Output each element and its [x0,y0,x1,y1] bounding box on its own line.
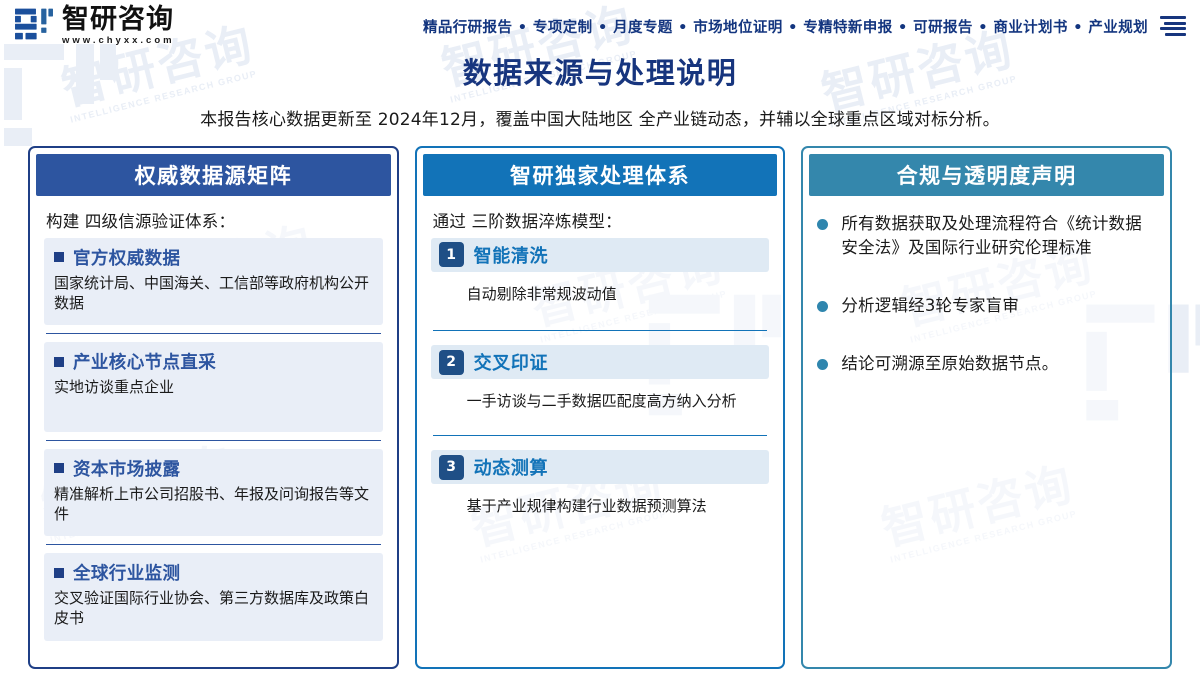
list-item-title: 资本市场披露 [73,456,180,481]
page-header: 智研咨询 www.chyxx.com 精品行研报告 • 专项定制 • 月度专题 … [0,0,1200,52]
divider [433,330,768,331]
panel-header-title: 权威数据源矩阵 [135,160,293,190]
list-item-desc: 精准解析上市公司招股书、年报及问询报告等文件 [54,484,373,525]
list-item[interactable]: 所有数据获取及处理流程符合《统计数据安全法》及国际行业研究伦理标准 [817,212,1156,260]
panel-header-1: 权威数据源矩阵 [36,154,391,196]
list-item[interactable]: 结论可溯源至原始数据节点。 [817,352,1156,376]
panel-compliance-statement: 合规与透明度声明 所有数据获取及处理流程符合《统计数据安全法》及国际行业研究伦理… [801,146,1172,669]
panels-container: 权威数据源矩阵 构建 四级信源验证体系： 官方权威数据 国家统计局、中国海关、工… [0,130,1200,669]
compliance-bullet-list: 所有数据获取及处理流程符合《统计数据安全法》及国际行业研究伦理标准 分析逻辑经3… [817,212,1156,376]
list-item[interactable]: 官方权威数据 国家统计局、中国海关、工信部等政府机构公开数据 [44,238,383,326]
step-number-badge: 1 [439,242,464,267]
list-item-title: 官方权威数据 [73,245,180,270]
panel-header-title: 智研独家处理体系 [510,160,690,190]
list-item-header: 官方权威数据 [54,245,373,270]
panel-header-title: 合规与透明度声明 [897,160,1077,190]
divider [46,440,381,441]
step-item[interactable]: 3 动态测算 基于产业规律构建行业数据预测算法 [431,450,770,516]
list-item-desc: 交叉验证国际行业协会、第三方数据库及政策白皮书 [54,588,373,629]
list-item-header: 全球行业监测 [54,560,373,585]
panel-body-1: 构建 四级信源验证体系： 官方权威数据 国家统计局、中国海关、工信部等政府机构公… [30,196,397,667]
square-bullet-icon [54,463,64,473]
divider [433,435,768,436]
page-title: 数据来源与处理说明 [0,58,1200,90]
logo-title: 智研咨询 [62,6,175,33]
panel-processing-system: 智研独家处理体系 通过 三阶数据淬炼模型： 1 智能清洗 自动剔除非常规波动值 … [415,146,786,669]
list-item-desc: 实地访谈重点企业 [54,377,373,397]
step-item[interactable]: 1 智能清洗 自动剔除非常规波动值 [431,238,770,304]
stripes-icon[interactable] [1160,16,1186,36]
square-bullet-icon [54,252,64,262]
brand-logo[interactable]: 智研咨询 www.chyxx.com [14,6,175,46]
header-tagline: 精品行研报告 • 专项定制 • 月度专题 • 市场地位证明 • 专精特新申报 •… [423,16,1148,37]
dot-bullet-icon [817,219,828,230]
step-header: 2 交叉印证 [431,345,770,379]
panel1-lead: 构建 四级信源验证体系： [46,208,383,232]
step-desc: 一手访谈与二手数据匹配度高方纳入分析 [467,391,770,411]
list-item-desc: 国家统计局、中国海关、工信部等政府机构公开数据 [54,273,373,314]
header-tagline-group: 精品行研报告 • 专项定制 • 月度专题 • 市场地位证明 • 专精特新申报 •… [423,16,1186,37]
step-desc: 自动剔除非常规波动值 [467,284,770,304]
list-item-title: 产业核心节点直采 [73,349,216,374]
dot-bullet-icon [817,301,828,312]
bullet-text: 分析逻辑经3轮专家盲审 [841,294,1019,318]
panel-body-2: 通过 三阶数据淬炼模型： 1 智能清洗 自动剔除非常规波动值 2 交叉印证 一手… [417,196,784,667]
divider [46,333,381,334]
panel-body-3: 所有数据获取及处理流程符合《统计数据安全法》及国际行业研究伦理标准 分析逻辑经3… [803,196,1170,667]
divider [46,544,381,545]
panel-header-2: 智研独家处理体系 [423,154,778,196]
list-item[interactable]: 产业核心节点直采 实地访谈重点企业 [44,342,383,431]
step-title: 交叉印证 [474,349,548,375]
logo-mark-icon [14,8,54,44]
dot-bullet-icon [817,359,828,370]
step-number-badge: 3 [439,455,464,480]
square-bullet-icon [54,568,64,578]
page-subtitle: 本报告核心数据更新至 2024年12月，覆盖中国大陆地区 全产业链动态，并辅以全… [0,105,1200,130]
logo-website: www.chyxx.com [62,36,175,46]
list-item-title: 全球行业监测 [73,560,180,585]
list-item-header: 产业核心节点直采 [54,349,373,374]
step-desc: 基于产业规律构建行业数据预测算法 [467,496,770,516]
step-header: 3 动态测算 [431,450,770,484]
list-item[interactable]: 资本市场披露 精准解析上市公司招股书、年报及问询报告等文件 [44,449,383,537]
panel-data-sources: 权威数据源矩阵 构建 四级信源验证体系： 官方权威数据 国家统计局、中国海关、工… [28,146,399,669]
list-item[interactable]: 全球行业监测 交叉验证国际行业协会、第三方数据库及政策白皮书 [44,553,383,641]
step-title: 智能清洗 [474,242,548,268]
bullet-text: 所有数据获取及处理流程符合《统计数据安全法》及国际行业研究伦理标准 [841,212,1156,260]
step-header: 1 智能清洗 [431,238,770,272]
title-block: 数据来源与处理说明 本报告核心数据更新至 2024年12月，覆盖中国大陆地区 全… [0,58,1200,130]
step-title: 动态测算 [474,454,548,480]
step-item[interactable]: 2 交叉印证 一手访谈与二手数据匹配度高方纳入分析 [431,345,770,411]
bullet-text: 结论可溯源至原始数据节点。 [841,352,1058,376]
list-item[interactable]: 分析逻辑经3轮专家盲审 [817,294,1156,318]
panel-header-3: 合规与透明度声明 [809,154,1164,196]
square-bullet-icon [54,357,64,367]
panel2-lead: 通过 三阶数据淬炼模型： [433,208,770,232]
list-item-header: 资本市场披露 [54,456,373,481]
step-number-badge: 2 [439,350,464,375]
